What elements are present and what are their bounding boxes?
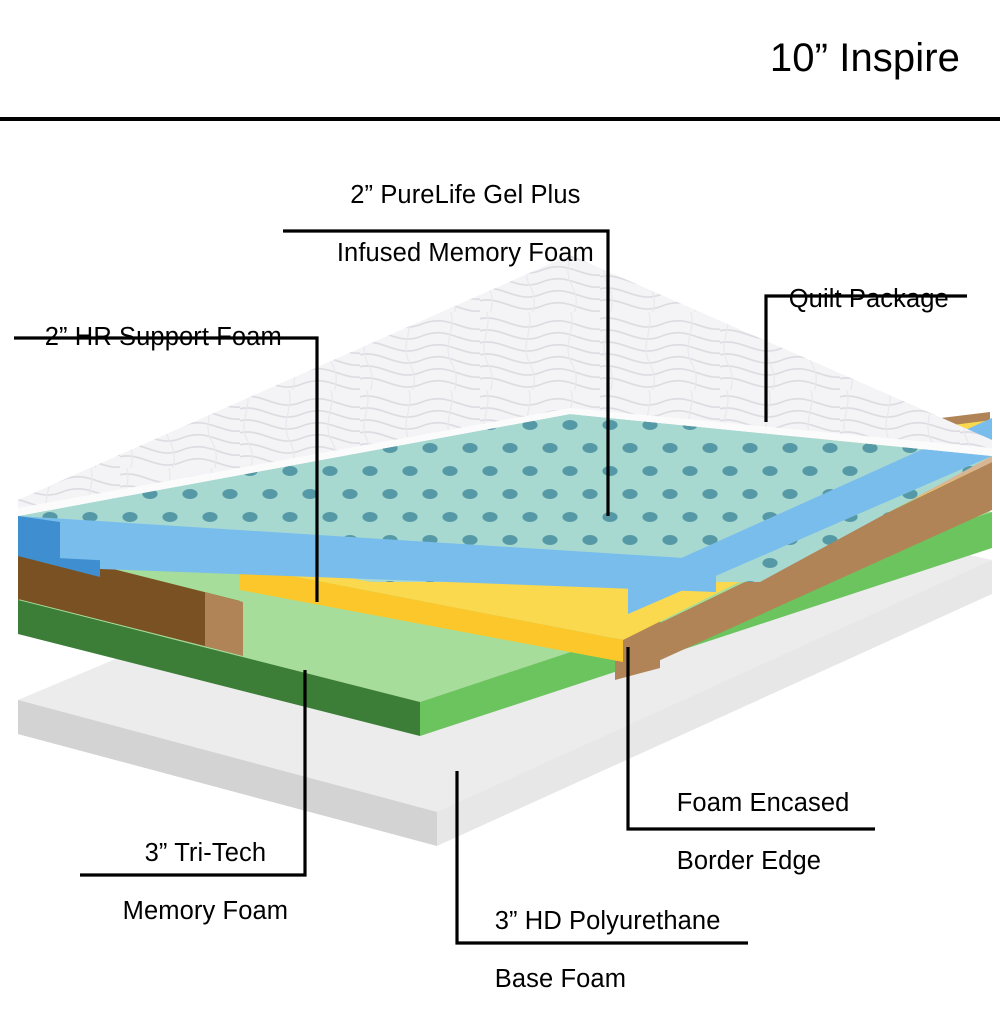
callout-tri-tech-memory-foam: 3” Tri-Tech Memory Foam	[78, 810, 304, 955]
callout-border-line2: Border Edge	[677, 847, 821, 875]
callout-tritech-line2: Memory Foam	[123, 897, 288, 925]
callout-tritech-line1: 3” Tri-Tech	[145, 839, 267, 867]
callout-quilt-package: Quilt Package	[760, 256, 984, 343]
callout-gel-line2: Infused Memory Foam	[337, 239, 594, 267]
callout-hr-support-foam: 2” HR Support Foam	[16, 294, 316, 381]
callout-gel-infused-memory-foam: 2” PureLife Gel Plus Infused Memory Foam	[286, 152, 616, 297]
callout-gel-line1: 2” PureLife Gel Plus	[350, 181, 580, 209]
callout-quilt-line1: Quilt Package	[789, 285, 949, 313]
diagram-canvas: 10” Inspire	[0, 0, 1000, 1000]
callout-hd-polyurethane-base-foam: 3” HD Polyurethane Base Foam	[466, 878, 746, 1023]
callout-border-line1: Foam Encased	[677, 789, 850, 817]
callout-base-line1: 3” HD Polyurethane	[495, 907, 721, 935]
callout-hr-line1: 2” HR Support Foam	[45, 323, 282, 351]
gel-foam-left-cap	[18, 516, 60, 562]
callout-base-line2: Base Foam	[495, 965, 626, 993]
border-rail-left-endcap2	[205, 592, 243, 656]
